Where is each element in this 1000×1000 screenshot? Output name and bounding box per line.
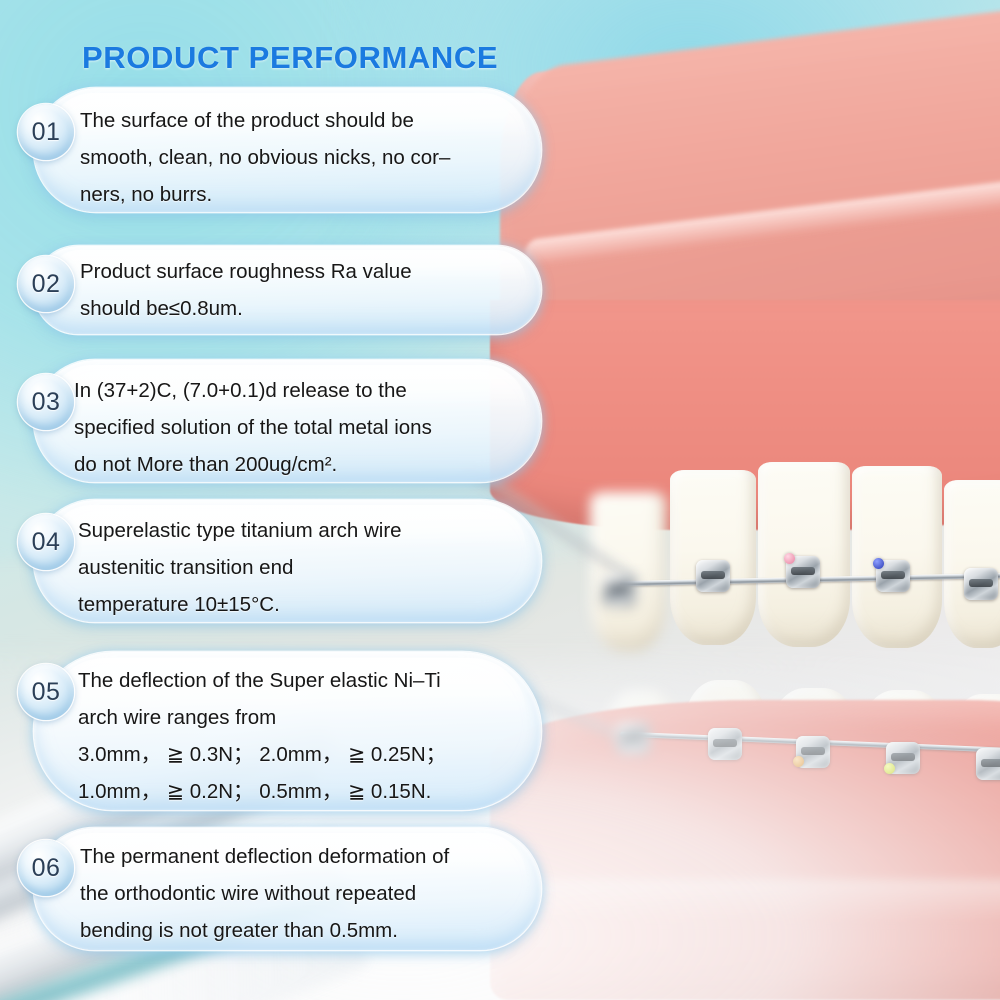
spec-number-badge: 03 <box>18 374 74 430</box>
spec-number: 01 <box>32 118 61 147</box>
spec-line: In (37+2)C, (7.0+0.1)d release to the <box>74 372 432 409</box>
spec-line: Superelastic type titanium arch wire <box>78 512 402 549</box>
spec-line: The surface of the product should be <box>80 102 450 139</box>
spec-number-badge: 02 <box>18 256 74 312</box>
bracket <box>696 560 730 592</box>
spec-number: 02 <box>32 270 61 299</box>
spec-number: 04 <box>32 528 61 557</box>
spec-line: austenitic transition end <box>78 549 402 586</box>
bracket-blurred <box>602 574 636 606</box>
spec-line: arch wire ranges from <box>78 699 446 736</box>
spec-line: temperature 10±15°C. <box>78 586 402 623</box>
spec-line: specified solution of the total metal io… <box>74 409 432 446</box>
spec-text: Superelastic type titanium arch wire aus… <box>78 512 402 623</box>
spec-text: Product surface roughness Ra value shoul… <box>80 253 412 327</box>
spec-line: The permanent deflection deformation of <box>80 838 449 875</box>
spec-number: 03 <box>32 388 61 417</box>
spec-line: The deflection of the Super elastic Ni–T… <box>78 662 446 699</box>
spec-number-badge: 06 <box>18 840 74 896</box>
spec-line: Product surface roughness Ra value <box>80 253 412 290</box>
spec-number-badge: 05 <box>18 664 74 720</box>
upper-tooth <box>944 480 1000 648</box>
upper-tooth <box>670 470 756 645</box>
spec-text: The permanent deflection deformation of … <box>80 838 449 949</box>
spec-line: should be≤0.8um. <box>80 290 412 327</box>
upper-tooth <box>758 462 850 647</box>
spec-number: 05 <box>32 678 61 707</box>
upper-tooth <box>852 466 942 648</box>
bracket <box>876 560 910 592</box>
bracket <box>786 556 820 588</box>
page-title: PRODUCT PERFORMANCE <box>82 40 498 76</box>
spec-line: the orthodontic wire without repeated <box>80 875 449 912</box>
spec-number-badge: 04 <box>18 514 74 570</box>
spec-number-badge: 01 <box>18 104 74 160</box>
spec-number: 06 <box>32 854 61 883</box>
bracket <box>964 568 998 600</box>
spec-line: bending is not greater than 0.5mm. <box>80 912 449 949</box>
spec-text: In (37+2)C, (7.0+0.1)d release to the sp… <box>74 372 432 483</box>
spec-line: do not More than 200ug/cm². <box>74 446 432 483</box>
spec-line: smooth, clean, no obvious nicks, no cor– <box>80 139 450 176</box>
spec-text: The surface of the product should be smo… <box>80 102 450 213</box>
infographic-canvas: PRODUCT PERFORMANCE 01 The surface of th… <box>0 0 1000 1000</box>
spec-line: 1.0mm， ≧ 0.2N； 0.5mm， ≧ 0.15N. <box>78 773 446 810</box>
blue-ligature-tie <box>873 558 884 569</box>
spec-text: The deflection of the Super elastic Ni–T… <box>78 662 446 810</box>
spec-line: ners, no burrs. <box>80 176 450 213</box>
pink-ligature-tie <box>784 553 795 564</box>
spec-line: 3.0mm， ≧ 0.3N； 2.0mm， ≧ 0.25N； <box>78 736 446 773</box>
